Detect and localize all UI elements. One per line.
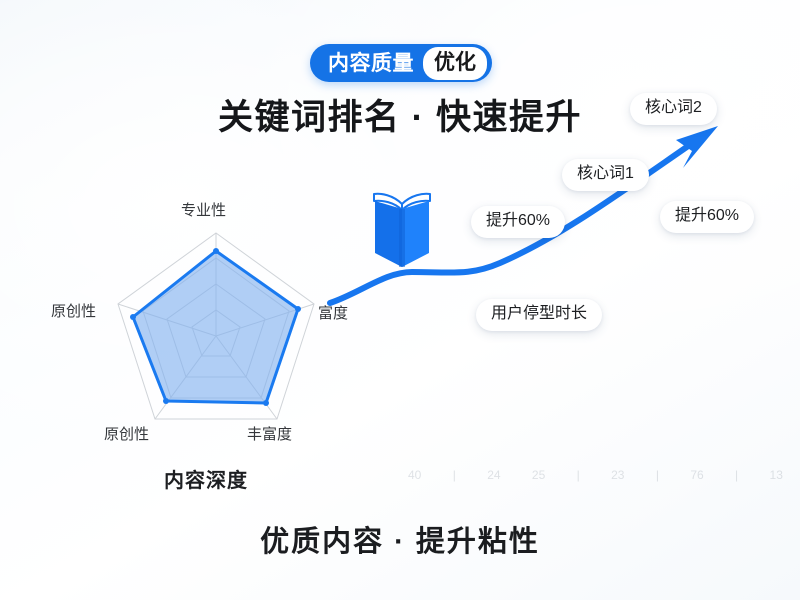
content-depth-label: 内容深度 xyxy=(164,464,248,493)
axis-tick: 13 xyxy=(770,469,783,481)
footer-title: 优质内容 · 提升粘性 xyxy=(0,518,800,560)
callout-uplift-right[interactable]: 提升60% xyxy=(660,201,754,233)
radar-label-top: 专业性 xyxy=(181,199,226,220)
axis-tick: 40 xyxy=(408,469,421,481)
axis-tick: 25 xyxy=(532,469,545,481)
badge-main-label: 内容质量 xyxy=(328,53,423,74)
badge-chip-label: 优化 xyxy=(423,47,487,80)
axis-tick: | xyxy=(735,469,738,481)
radar-data-area xyxy=(133,251,298,403)
axis-tick: 23 xyxy=(611,469,624,481)
radar-label-right: 富度 xyxy=(318,302,348,323)
faint-axis-strip: 40 | 24 25 | 23 | 76 | 13 xyxy=(408,462,783,488)
open-book-icon xyxy=(371,189,433,275)
radar-label-left: 原创性 xyxy=(51,300,96,321)
radar-label-bottom-left: 原创性 xyxy=(104,423,149,444)
axis-tick: | xyxy=(577,469,580,481)
callout-dwell-time[interactable]: 用户停型时长 xyxy=(476,299,602,331)
axis-tick: 76 xyxy=(690,469,703,481)
axis-tick: 24 xyxy=(487,469,500,481)
callout-uplift-left[interactable]: 提升60% xyxy=(471,206,565,238)
radar-label-bottom-right: 丰富度 xyxy=(247,423,292,444)
callout-keyword-1[interactable]: 核心词1 xyxy=(562,159,649,191)
poster-canvas: 内容质量 优化 关键词排名 · 快速提升 xyxy=(0,0,800,600)
callout-keyword-2[interactable]: 核心词2 xyxy=(630,93,717,125)
axis-tick: | xyxy=(656,469,659,481)
axis-tick: | xyxy=(453,469,456,481)
status-badge: 内容质量 优化 xyxy=(310,44,492,82)
